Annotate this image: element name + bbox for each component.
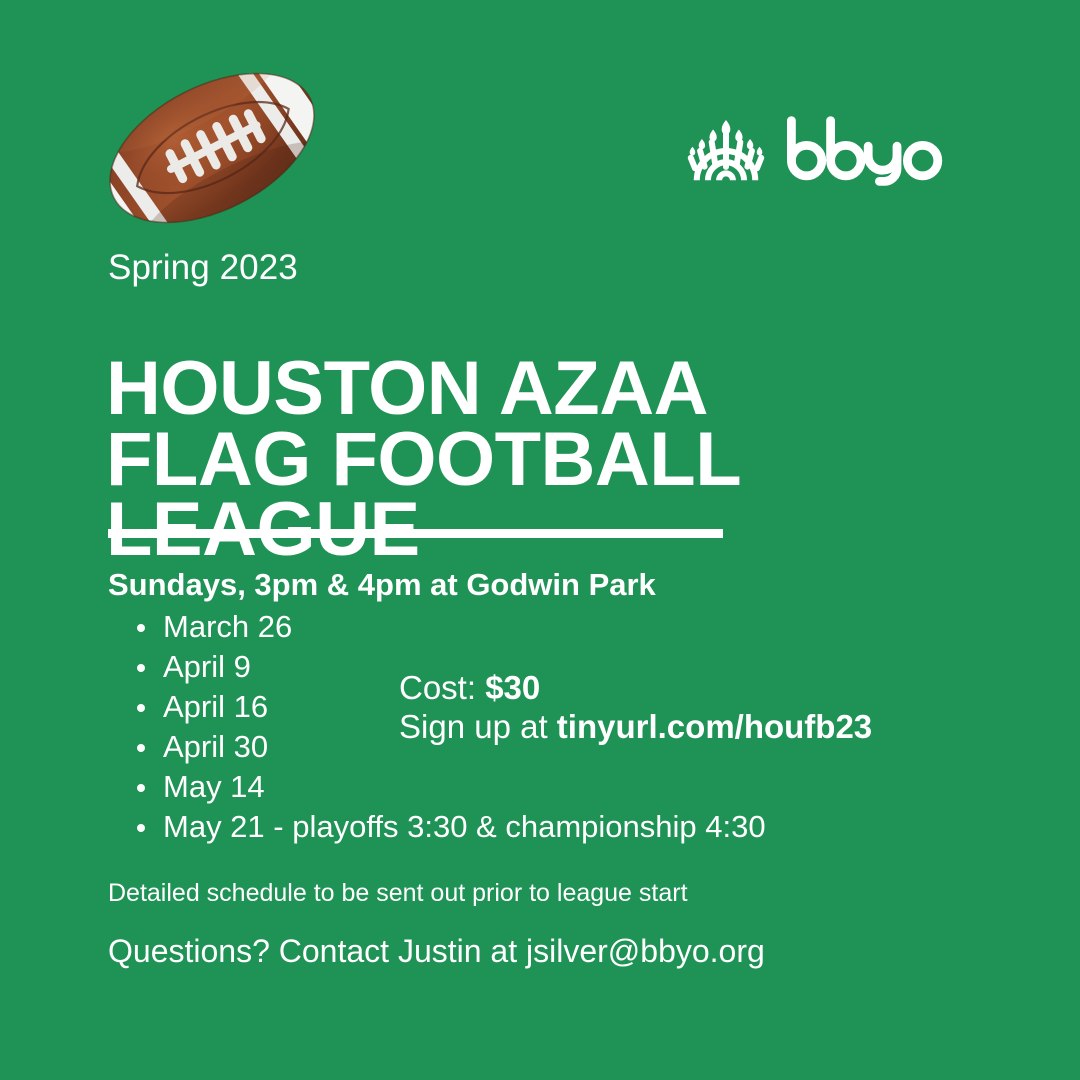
schedule-note: Detailed schedule to be sent out prior t… xyxy=(108,878,688,908)
contact-line: Questions? Contact Justin at jsilver@bby… xyxy=(108,932,765,970)
bullet-icon xyxy=(137,784,145,792)
date-label: March 26 xyxy=(163,609,292,644)
list-item: March 26 xyxy=(133,607,766,647)
date-label: April 16 xyxy=(163,689,268,724)
bullet-icon xyxy=(137,664,145,672)
signup-row: Sign up at tinyurl.com/houfb23 xyxy=(399,707,872,746)
bullet-icon xyxy=(137,744,145,752)
cost-value: $30 xyxy=(485,669,540,706)
date-label: April 30 xyxy=(163,729,268,764)
date-label: May 21 - playoffs 3:30 & championship 4:… xyxy=(163,809,766,844)
bullet-icon xyxy=(137,704,145,712)
signup-label: Sign up at xyxy=(399,708,548,745)
bbyo-wordmark xyxy=(785,114,945,188)
bullet-icon xyxy=(137,624,145,632)
schedule-heading: Sundays, 3pm & 4pm at Godwin Park xyxy=(108,568,656,602)
season-label: Spring 2023 xyxy=(108,250,298,285)
signup-url[interactable]: tinyurl.com/houfb23 xyxy=(557,708,872,745)
title-line-2: FLAG FOOTBALL xyxy=(106,425,741,496)
list-item: May 21 - playoffs 3:30 & championship 4:… xyxy=(133,807,766,847)
title-divider xyxy=(108,529,723,538)
menorah-icon xyxy=(683,108,769,194)
bbyo-logo xyxy=(683,108,945,194)
football-icon xyxy=(98,52,326,244)
bullet-icon xyxy=(137,824,145,832)
list-item: May 14 xyxy=(133,767,766,807)
flyer-canvas: Spring 2023 HOUSTON AZAA FLAG FOOTBALL L… xyxy=(0,0,1080,1080)
cost-label: Cost: xyxy=(399,669,476,706)
date-label: May 14 xyxy=(163,769,265,804)
date-label: April 9 xyxy=(163,649,251,684)
signup-block: Cost: $30 Sign up at tinyurl.com/houfb23 xyxy=(399,668,872,746)
cost-row: Cost: $30 xyxy=(399,668,872,707)
title-line-1: HOUSTON AZAA xyxy=(106,354,741,425)
